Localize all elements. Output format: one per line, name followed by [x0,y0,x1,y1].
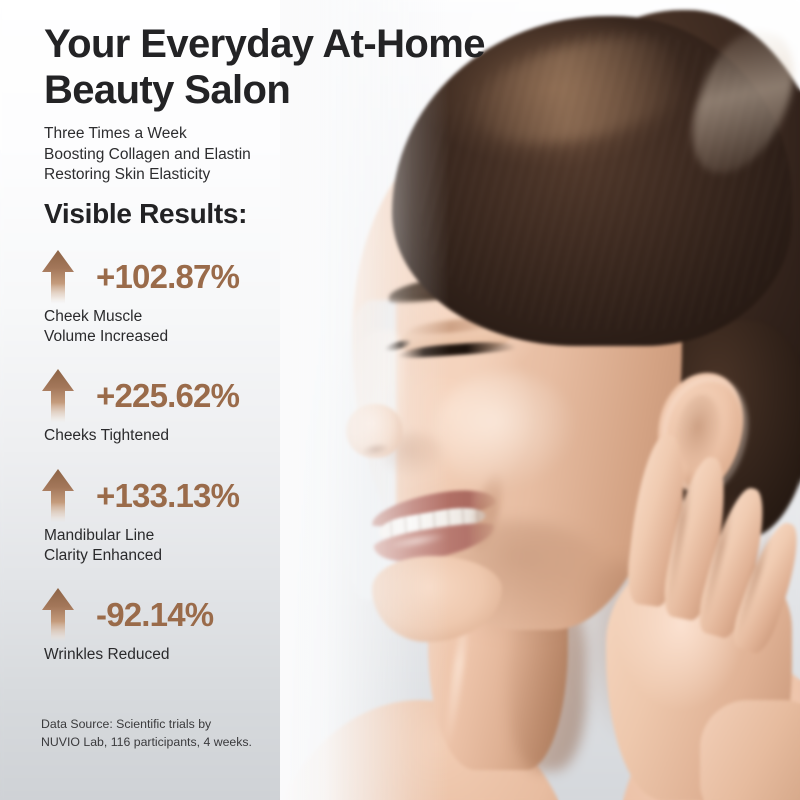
stat-item: -92.14% Wrinkles Reduced [40,586,340,665]
subheadline: Three Times a Week Boosting Collagen and… [44,124,374,186]
stat-item: +102.87% Cheek Muscle Volume Increased [40,248,340,347]
stat-value: +133.13% [96,477,239,515]
up-arrow-icon [40,367,92,425]
stat-row: -92.14% [40,586,340,644]
up-arrow-icon [40,467,92,525]
stat-value: +102.87% [96,258,239,296]
stat-value: -92.14% [96,596,213,634]
beauty-infographic-poster: Your Everyday At-Home Beauty Salon Three… [0,0,800,800]
visible-results-title: Visible Results: [44,198,247,230]
stats-list: +102.87% Cheek Muscle Volume Increased [40,248,340,665]
stat-row: +102.87% [40,248,340,306]
content-overlay: Your Everyday At-Home Beauty Salon Three… [0,0,800,800]
stat-label: Wrinkles Reduced [44,645,340,665]
stat-value: +225.62% [96,377,239,415]
stat-row: +133.13% [40,467,340,525]
stat-label: Cheeks Tightened [44,426,340,446]
up-arrow-icon [40,248,92,306]
stat-row: +225.62% [40,367,340,425]
stat-label: Cheek Muscle Volume Increased [44,307,340,347]
stat-item: +133.13% Mandibular Line Clarity Enhance… [40,467,340,566]
stat-label: Mandibular Line Clarity Enhanced [44,526,340,566]
data-source-footnote: Data Source: Scientific trials by NUVIO … [41,716,341,752]
stat-item: +225.62% Cheeks Tightened [40,367,340,446]
up-arrow-icon [40,586,92,644]
headline: Your Everyday At-Home Beauty Salon [44,22,514,113]
